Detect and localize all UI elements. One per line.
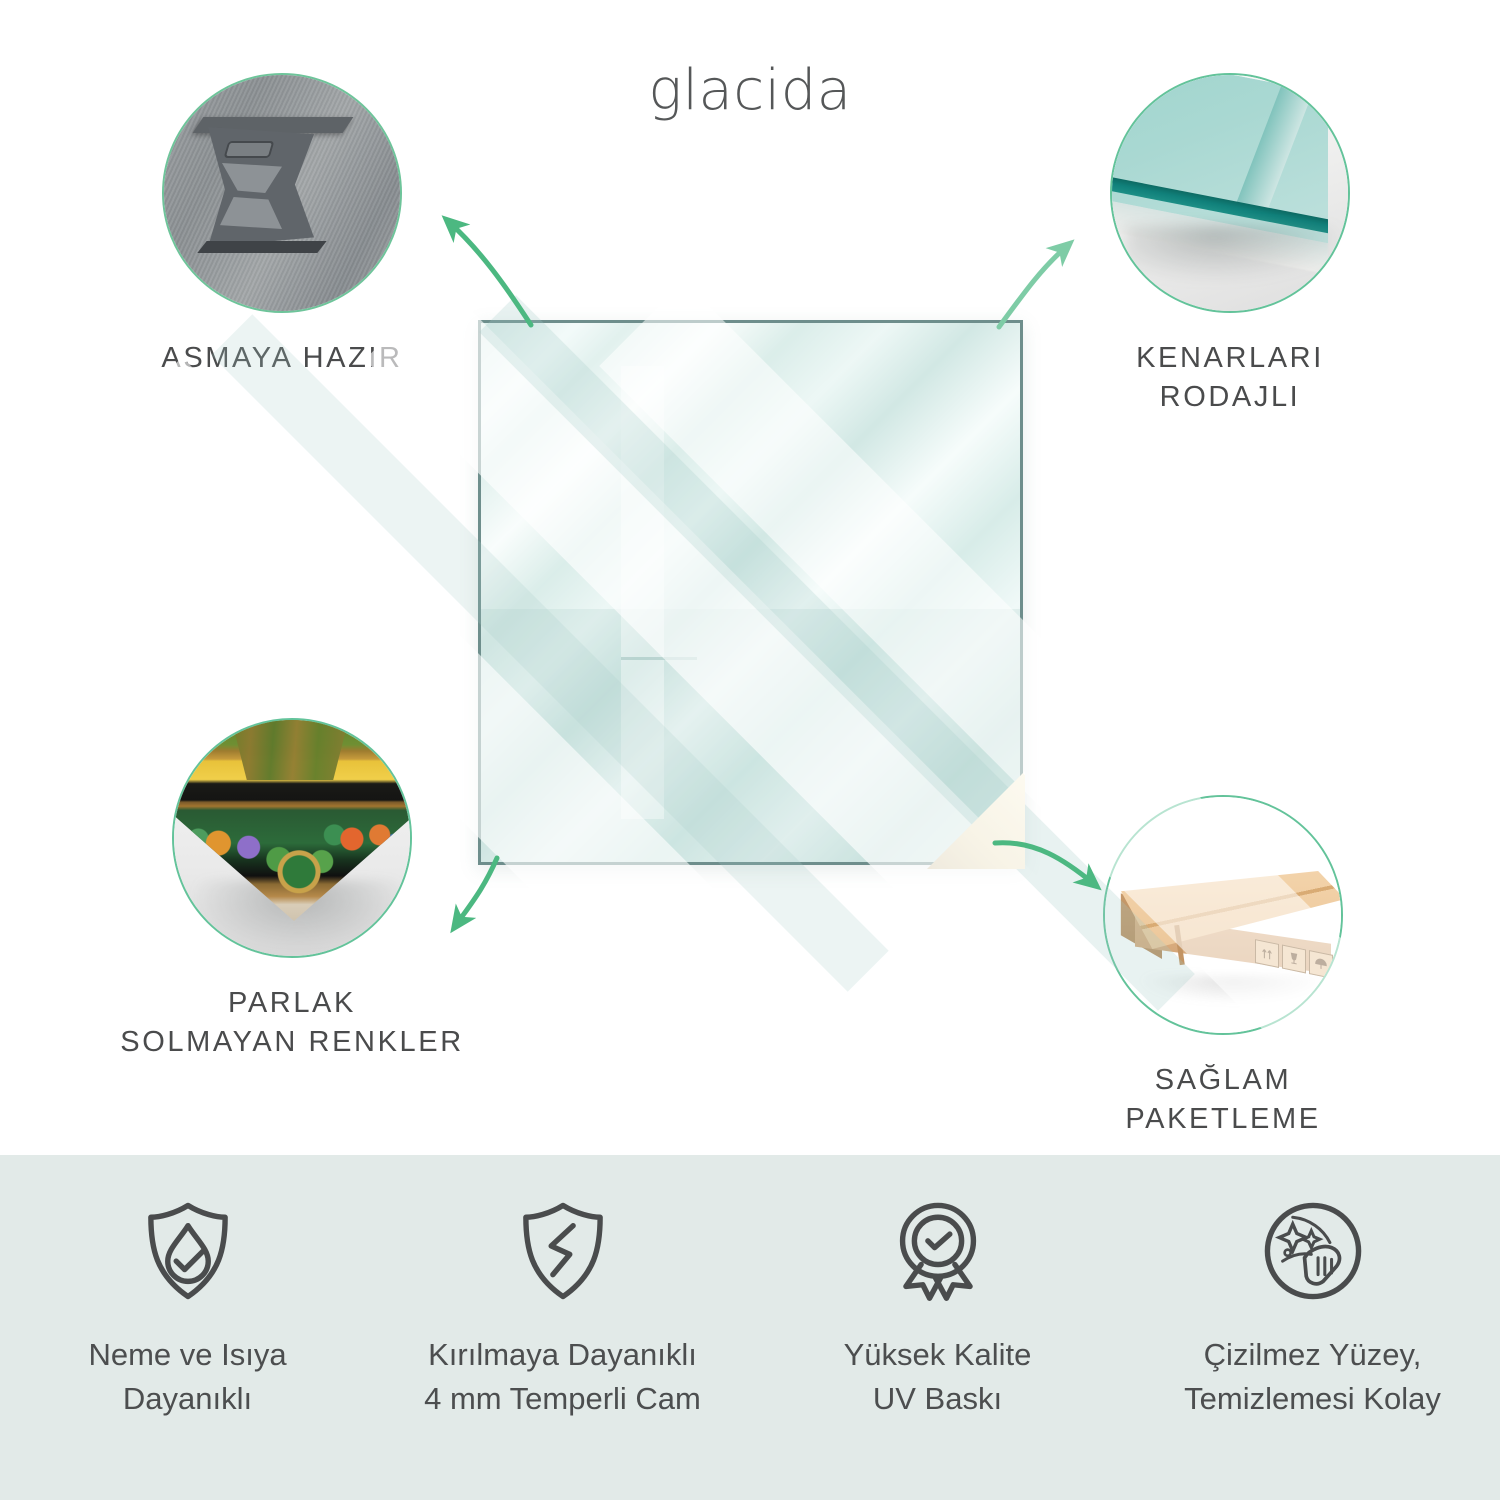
benefit-high-quality: Yüksek Kalite UV Baskı xyxy=(750,1155,1125,1500)
benefit-text-scratch-proof: Çizilmez Yüzey, Temizlemesi Kolay xyxy=(1184,1333,1441,1421)
shield-lightning-icon xyxy=(509,1197,617,1305)
benefits-band: Neme ve Isıya Dayanıklı Kırılmaya Dayanı… xyxy=(0,1155,1500,1500)
benefit-break-resistant: Kırılmaya Dayanıklı 4 mm Temperli Cam xyxy=(375,1155,750,1500)
feature-kenarlari-rodajli: KENARLARI RODAJLI xyxy=(1110,73,1400,416)
polished-glass-edge-icon xyxy=(1110,73,1350,313)
infographic-page: glacida ASMAYA HAZIR KENARLARI RODAJLI xyxy=(0,0,1500,1500)
benefit-scratch-proof: Çizilmez Yüzey, Temizlemesi Kolay xyxy=(1125,1155,1500,1500)
sparkle-hand-clean-icon xyxy=(1259,1197,1367,1305)
feature-label-kenarlari-rodajli: KENARLARI RODAJLI xyxy=(1060,339,1400,416)
product-glass-panel xyxy=(478,320,1023,865)
arrow-to-kenarlari-rodajli xyxy=(999,246,1067,327)
glass-surface xyxy=(478,320,1023,865)
benefit-text-moisture-heat: Neme ve Isıya Dayanıklı xyxy=(88,1333,286,1421)
award-ribbon-check-icon xyxy=(884,1197,992,1305)
benefit-text-break-resistant: Kırılmaya Dayanıklı 4 mm Temperli Cam xyxy=(424,1333,701,1421)
feature-label-parlak-solmayan-renkler: PARLAK SOLMAYAN RENKLER xyxy=(82,984,502,1061)
stained-glass-mosaic-icon xyxy=(172,718,412,958)
benefit-moisture-heat: Neme ve Isıya Dayanıklı xyxy=(0,1155,375,1500)
benefit-text-high-quality: Yüksek Kalite UV Baskı xyxy=(844,1333,1032,1421)
shield-water-drop-check-icon xyxy=(134,1197,242,1305)
wall-mount-bracket-icon xyxy=(162,73,402,313)
feature-label-saglam-paketleme: SAĞLAM PAKETLEME xyxy=(1023,1061,1423,1138)
